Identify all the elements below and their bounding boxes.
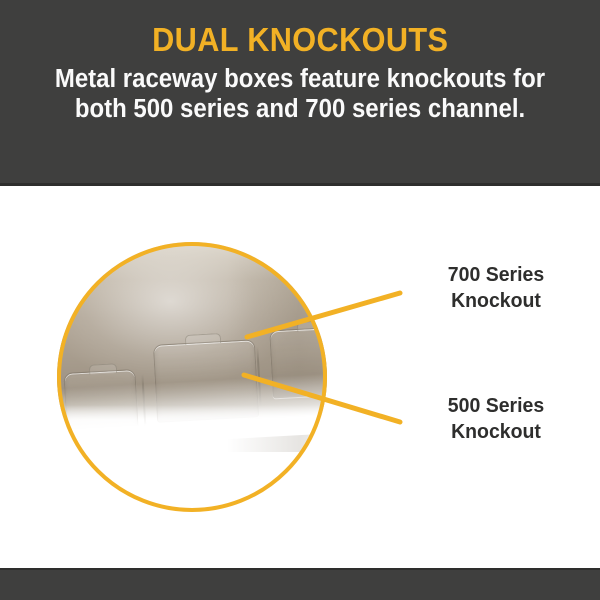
callout-700-line2: Knockout <box>411 288 582 314</box>
figure-area: 700 Series Knockout 500 Series Knockout <box>0 186 600 568</box>
footer-bar <box>0 568 600 600</box>
product-feature-callout-graphic: DUAL KNOCKOUTS Metal raceway boxes featu… <box>0 0 600 600</box>
callout-500-line2: Knockout <box>411 419 582 445</box>
callout-500-line1: 500 Series <box>411 393 582 419</box>
callout-700-line1: 700 Series <box>411 262 582 288</box>
circle-highlight-ring <box>57 242 327 512</box>
header-banner: DUAL KNOCKOUTS Metal raceway boxes featu… <box>0 0 600 186</box>
page-title: DUAL KNOCKOUTS <box>152 22 448 58</box>
callout-500-series: 500 Series Knockout <box>411 393 582 445</box>
page-subtitle: Metal raceway boxes feature knockouts fo… <box>31 64 569 124</box>
callout-700-series: 700 Series Knockout <box>411 262 582 314</box>
